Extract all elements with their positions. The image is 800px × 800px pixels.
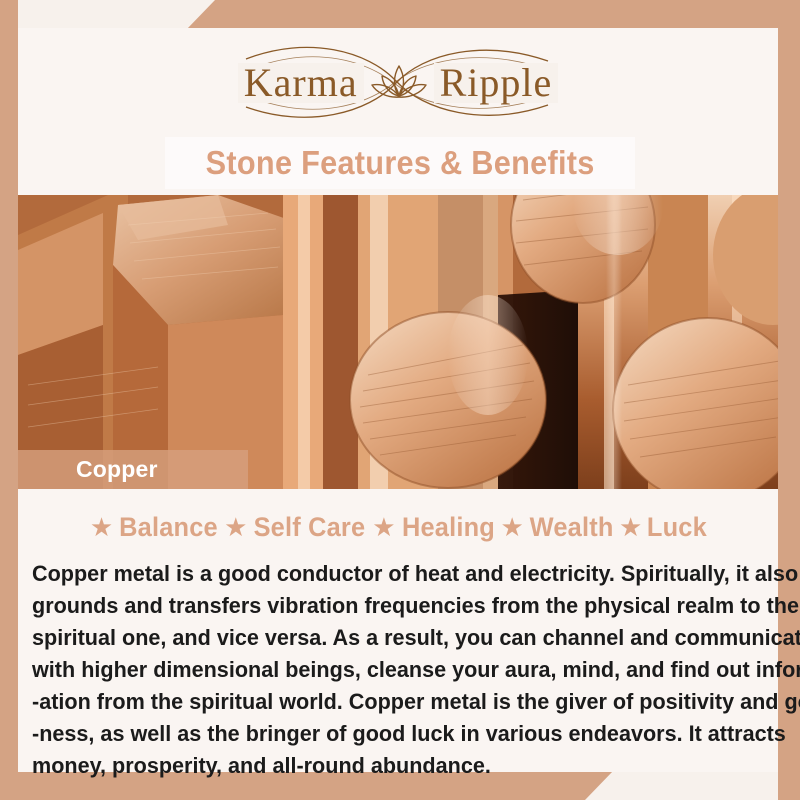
- benefit-label: Healing: [402, 512, 495, 543]
- stone-name-label: Copper: [18, 456, 158, 483]
- benefit-item: ★ Wealth: [498, 512, 617, 543]
- benefit-label: Wealth: [529, 512, 613, 543]
- brand-word-right: Ripple: [434, 63, 559, 103]
- benefit-item: ★ Luck: [616, 512, 709, 543]
- description-line: grounds and transfers vibration frequenc…: [32, 590, 742, 622]
- star-icon: ★: [221, 514, 250, 540]
- lotus-icon: [368, 60, 430, 106]
- brand-word-left: Karma: [238, 63, 364, 103]
- title-panel: Stone Features & Benefits: [165, 137, 635, 189]
- description-text: Copper metal is a good conductor of heat…: [32, 558, 772, 782]
- description-line: -ness, as well as the bringer of good lu…: [32, 718, 742, 750]
- description-line: with higher dimensional beings, cleanse …: [32, 654, 742, 686]
- star-icon: ★: [616, 514, 645, 540]
- description-line: spiritual one, and vice versa. As a resu…: [32, 622, 742, 654]
- description-line: Copper metal is a good conductor of heat…: [32, 558, 742, 590]
- benefit-label: Self Care: [254, 512, 366, 543]
- hero-image: [18, 195, 778, 489]
- benefit-label: Luck: [647, 512, 707, 543]
- star-icon: ★: [498, 514, 527, 540]
- page-title: Stone Features & Benefits: [205, 144, 594, 182]
- brand-logo: Karma Ripple: [18, 28, 778, 138]
- benefit-item: ★ Healing: [369, 512, 497, 543]
- benefit-item: ★ Balance: [87, 512, 221, 543]
- benefit-label: Balance: [119, 512, 218, 543]
- star-icon: ★: [87, 514, 116, 540]
- description-line: money, prosperity, and all-round abundan…: [32, 750, 742, 782]
- stone-name-band: Copper: [18, 450, 248, 489]
- star-icon: ★: [369, 514, 398, 540]
- benefit-item: ★ Self Care: [221, 512, 369, 543]
- description-line: -ation from the spiritual world. Copper …: [32, 686, 742, 718]
- frame-top-band: [0, 0, 800, 30]
- benefits-row: ★ Balance ★ Self Care ★ Healing ★ Wealth…: [18, 506, 778, 548]
- frame-left-band: [0, 0, 18, 800]
